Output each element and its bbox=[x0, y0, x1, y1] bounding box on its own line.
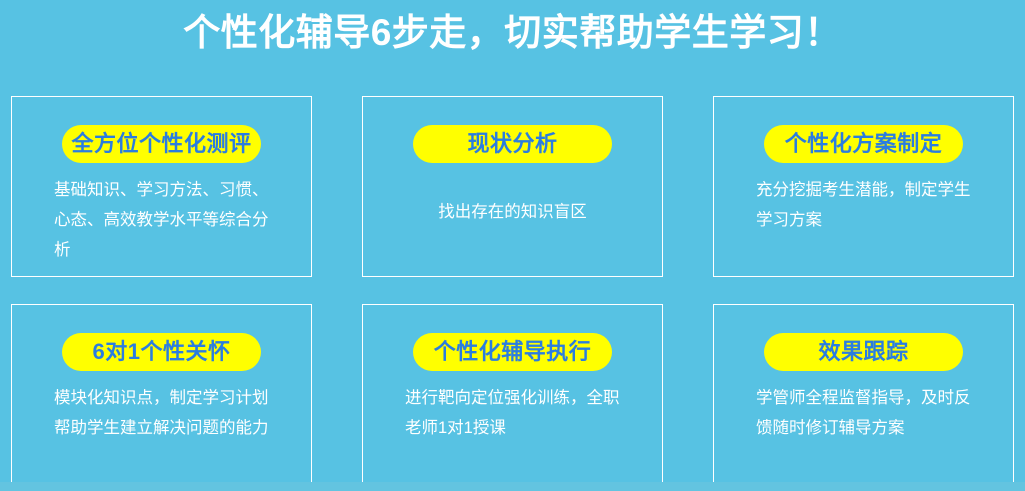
step-badge-wrapper-6: 效果跟踪 bbox=[714, 333, 1013, 371]
step-badge-wrapper-4: 6对1个性关怀 bbox=[12, 333, 311, 371]
promo-banner: 个性化辅导6步走，切实帮助学生学习！ 全方位个性化测评 基础知识、学习方法、习惯… bbox=[0, 0, 1025, 491]
step-card-grid: 全方位个性化测评 基础知识、学习方法、习惯、心态、高效教学水平等综合分析 现状分… bbox=[11, 96, 1014, 485]
step-card-6[interactable]: 效果跟踪 学管师全程监督指导，及时反馈随时修订辅导方案 bbox=[713, 304, 1014, 485]
step-badge-6[interactable]: 效果跟踪 bbox=[764, 333, 963, 371]
step-badge-4[interactable]: 6对1个性关怀 bbox=[62, 333, 261, 371]
step-badge-wrapper-1: 全方位个性化测评 bbox=[12, 125, 311, 163]
page-title: 个性化辅导6步走，切实帮助学生学习！ bbox=[0, 11, 1025, 55]
step-badge-5[interactable]: 个性化辅导执行 bbox=[413, 333, 612, 371]
step-card-2[interactable]: 现状分析 找出存在的知识盲区 bbox=[362, 96, 663, 277]
step-badge-wrapper-5: 个性化辅导执行 bbox=[363, 333, 662, 371]
step-card-3[interactable]: 个性化方案制定 充分挖掘考生潜能，制定学生学习方案 bbox=[713, 96, 1014, 277]
step-badge-wrapper-2: 现状分析 bbox=[363, 125, 662, 163]
step-body-3: 充分挖掘考生潜能，制定学生学习方案 bbox=[756, 175, 985, 235]
step-badge-wrapper-3: 个性化方案制定 bbox=[714, 125, 1013, 163]
step-body-2: 找出存在的知识盲区 bbox=[391, 197, 634, 227]
step-badge-2[interactable]: 现状分析 bbox=[413, 125, 612, 163]
step-body-4: 模块化知识点，制定学习计划帮助学生建立解决问题的能力 bbox=[54, 383, 283, 443]
step-body-5: 进行靶向定位强化训练，全职老师1对1授课 bbox=[405, 383, 634, 443]
step-body-6: 学管师全程监督指导，及时反馈随时修订辅导方案 bbox=[756, 383, 985, 443]
step-card-5[interactable]: 个性化辅导执行 进行靶向定位强化训练，全职老师1对1授课 bbox=[362, 304, 663, 485]
step-card-1[interactable]: 全方位个性化测评 基础知识、学习方法、习惯、心态、高效教学水平等综合分析 bbox=[11, 96, 312, 277]
step-body-1: 基础知识、学习方法、习惯、心态、高效教学水平等综合分析 bbox=[54, 175, 283, 265]
bottom-strip bbox=[0, 482, 1025, 491]
step-card-4[interactable]: 6对1个性关怀 模块化知识点，制定学习计划帮助学生建立解决问题的能力 bbox=[11, 304, 312, 485]
step-badge-1[interactable]: 全方位个性化测评 bbox=[62, 125, 261, 163]
step-badge-3[interactable]: 个性化方案制定 bbox=[764, 125, 963, 163]
